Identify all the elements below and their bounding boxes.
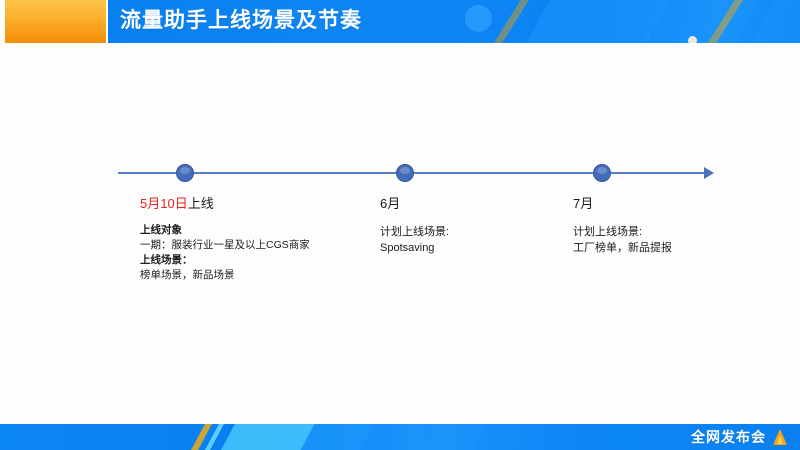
timeline-node-2[interactable] — [396, 164, 414, 182]
header-decor-stripe-1 — [489, 0, 532, 43]
header-decor-circle-icon — [465, 5, 492, 32]
timeline-node-1[interactable] — [176, 164, 194, 182]
flame-inner — [777, 435, 783, 444]
milestone-3-line-2: 工厂榜单，新品提报 — [573, 241, 672, 257]
milestone-1-line-3: 上线场景： — [140, 253, 310, 268]
milestone-3-date-rest: 7月 — [573, 196, 593, 211]
milestone-block-2: 6月 计划上线场景: Spotsaving — [380, 195, 449, 256]
milestone-2-date: 6月 — [380, 195, 449, 213]
node-gloss — [180, 167, 190, 174]
milestone-block-3: 7月 计划上线场景: 工厂榜单，新品提报 — [573, 195, 672, 256]
milestone-2-line-1: 计划上线场景: — [380, 225, 449, 241]
milestone-1-date-highlight: 5月10日 — [140, 196, 188, 211]
presentation-slide: 流量助手上线场景及节奏 5月10日上线 上线对象 一期：服装行业一星及以上CGS… — [0, 0, 800, 450]
timeline-chart: 5月10日上线 上线对象 一期：服装行业一星及以上CGS商家 上线场景： 榜单场… — [0, 43, 800, 418]
milestone-2-date-rest: 6月 — [380, 196, 400, 211]
timeline-arrow-icon — [704, 167, 714, 179]
milestone-1-date-rest: 上线 — [188, 196, 214, 211]
header-decor-dot-icon — [688, 36, 697, 43]
milestone-3-line-1: 计划上线场景: — [573, 225, 672, 241]
milestone-1-line-2: 一期：服装行业一星及以上CGS商家 — [140, 238, 310, 253]
header-accent-block — [5, 0, 106, 43]
slide-footer: 全网发布会 — [0, 424, 800, 450]
milestone-3-date: 7月 — [573, 195, 672, 213]
header-title-bar: 流量助手上线场景及节奏 — [108, 0, 800, 43]
node-gloss — [597, 167, 607, 174]
milestone-1-date: 5月10日上线 — [140, 195, 310, 213]
slide-title: 流量助手上线场景及节奏 — [120, 7, 362, 35]
milestone-1-details: 上线对象 一期：服装行业一星及以上CGS商家 上线场景： 榜单场景，新品场景 — [140, 223, 310, 283]
milestone-3-details: 计划上线场景: 工厂榜单，新品提报 — [573, 225, 672, 256]
footer-brand: 全网发布会 — [691, 427, 788, 447]
slide-body: 5月10日上线 上线对象 一期：服装行业一星及以上CGS商家 上线场景： 榜单场… — [0, 43, 800, 418]
timeline-node-3[interactable] — [593, 164, 611, 182]
milestone-2-line-2: Spotsaving — [380, 241, 449, 257]
milestone-2-details: 计划上线场景: Spotsaving — [380, 225, 449, 256]
footer-decor-blue-wedge-2 — [421, 424, 489, 450]
milestone-1-line-4: 榜单场景，新品场景 — [140, 268, 310, 283]
milestone-block-1: 5月10日上线 上线对象 一期：服装行业一星及以上CGS商家 上线场景： 榜单场… — [140, 195, 310, 283]
node-gloss — [400, 167, 410, 174]
footer-brand-label: 全网发布会 — [691, 427, 766, 447]
milestone-1-line-1: 上线对象 — [140, 223, 310, 238]
header-decor-wedge-3 — [752, 0, 800, 43]
flame-icon — [772, 429, 788, 446]
slide-header: 流量助手上线场景及节奏 — [0, 0, 800, 43]
